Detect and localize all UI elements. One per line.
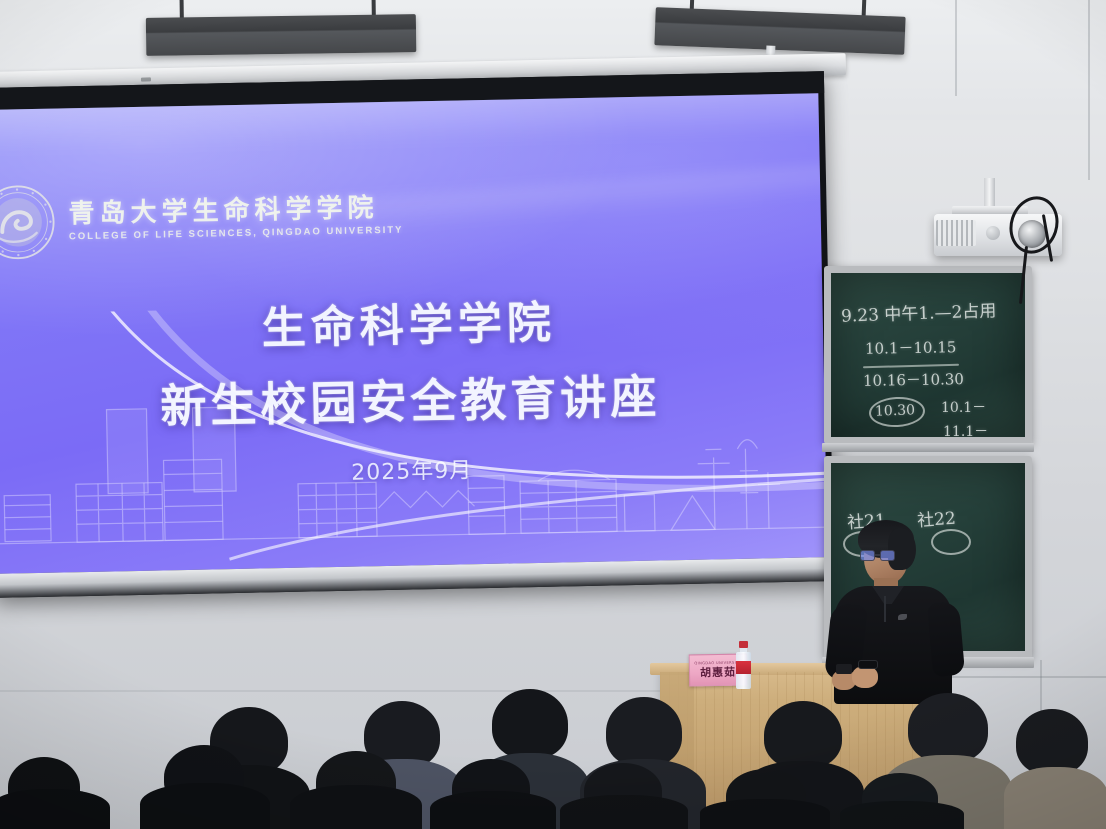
presenter-hair-side bbox=[888, 528, 916, 570]
audience-head bbox=[908, 693, 988, 763]
fixture-bar bbox=[146, 14, 417, 56]
chalk-text-circled-date: 10.30 bbox=[875, 402, 916, 419]
chalk-text-range-1: 10.1－10.15 bbox=[865, 336, 957, 359]
qingdao-university-seal-icon bbox=[0, 183, 57, 263]
audience bbox=[0, 669, 1106, 829]
screen-housing-label bbox=[141, 77, 151, 81]
wristwatch-icon bbox=[858, 660, 878, 669]
glasses-icon bbox=[860, 550, 894, 561]
audience-shoulders bbox=[700, 799, 830, 829]
audience-member bbox=[290, 751, 422, 829]
wall-seam-vertical-1 bbox=[955, 0, 957, 96]
chalk-text-range-2: 10.16－10.30 bbox=[863, 368, 964, 391]
blackboard-upper: 9.23 中午1.—2占用 10.1－10.15 10.16－10.30 10.… bbox=[824, 266, 1032, 444]
fixture-bar bbox=[654, 7, 905, 55]
slide-content: 青岛大学生命科学学院 COLLEGE OF LIFE SCIENCES, QIN… bbox=[0, 93, 828, 574]
audience-shoulders bbox=[560, 795, 688, 829]
audience-head bbox=[606, 697, 682, 767]
projector-knob bbox=[986, 226, 1000, 240]
audience-member bbox=[560, 763, 688, 829]
audience-member bbox=[700, 769, 830, 829]
audience-head bbox=[492, 689, 568, 759]
wall-seam-vertical-2 bbox=[1088, 0, 1090, 180]
audience-member bbox=[0, 757, 110, 829]
blackboard-upper-tray bbox=[822, 443, 1034, 452]
glasses-lens-left bbox=[860, 550, 875, 561]
audience-shoulders bbox=[0, 789, 110, 829]
slide-logo-chinese: 青岛大学生命科学学院 bbox=[68, 194, 403, 227]
blackboard-upper-surface: 9.23 中午1.—2占用 10.1－10.15 10.16－10.30 10.… bbox=[831, 273, 1025, 437]
slide-logo: 青岛大学生命科学学院 COLLEGE OF LIFE SCIENCES, QIN… bbox=[0, 176, 404, 263]
chalk-text-schedule-header: 9.23 中午1.—2占用 bbox=[841, 296, 997, 326]
chalk-text-range-3: 10.1－ bbox=[941, 397, 986, 417]
projected-slide: 青岛大学生命科学学院 COLLEGE OF LIFE SCIENCES, QIN… bbox=[0, 93, 828, 574]
slide-skyline-graphic bbox=[0, 351, 828, 574]
audience-member bbox=[1004, 709, 1106, 829]
audience-head bbox=[764, 701, 842, 769]
audience-shoulders bbox=[430, 791, 556, 829]
lecture-hall-scene: 青岛大学生命科学学院 COLLEGE OF LIFE SCIENCES, QIN… bbox=[0, 0, 1106, 829]
presenter-shirt-placket bbox=[884, 596, 886, 622]
projector-mount-pole bbox=[984, 178, 995, 208]
audience-shoulders bbox=[840, 801, 964, 829]
audience-member bbox=[430, 759, 556, 829]
chalk-text-range-4: 11.1－ bbox=[943, 421, 988, 437]
audience-head bbox=[1016, 709, 1088, 775]
projection-screen: 青岛大学生命科学学院 COLLEGE OF LIFE SCIENCES, QIN… bbox=[0, 71, 834, 598]
presenter-arm-right bbox=[927, 601, 965, 678]
ceiling-light-fixture-left bbox=[146, 0, 417, 62]
audience-member bbox=[840, 773, 964, 829]
presenter-shirt-logo bbox=[898, 614, 907, 620]
slide-logo-text: 青岛大学生命科学学院 COLLEGE OF LIFE SCIENCES, QIN… bbox=[68, 194, 403, 241]
audience-member bbox=[140, 745, 270, 829]
audience-shoulders bbox=[140, 783, 270, 829]
audience-shoulders bbox=[1004, 767, 1106, 829]
projector-vent-icon bbox=[936, 220, 976, 246]
glasses-lens-right bbox=[880, 550, 895, 561]
audience-shoulders bbox=[290, 785, 422, 829]
slide-title-line-1: 生命科学学院 bbox=[0, 281, 823, 362]
bottle-cap bbox=[739, 641, 748, 648]
